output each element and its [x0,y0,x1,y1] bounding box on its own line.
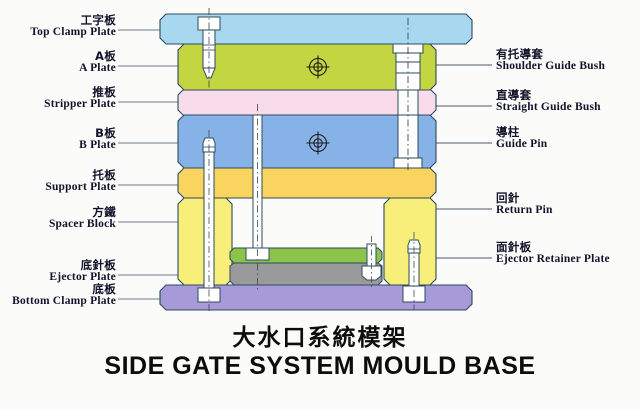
label-b-plate: B板 B Plate [0,127,116,152]
label-shoulder-guide-bush-en: Shoulder Guide Bush [496,60,605,72]
label-support-plate-en: Support Plate [0,181,116,193]
label-straight-guide-bush-en: Straight Guide Bush [496,101,601,113]
label-return-pin-cn: 回針 [496,192,553,204]
label-bottom-clamp-plate: 底板 Bottom Clamp Plate [0,283,116,308]
label-return-pin-en: Return Pin [496,204,553,216]
label-guide-pin-cn: 導柱 [496,126,547,138]
label-b-plate-en: B Plate [0,139,116,151]
label-spacer-block-en: Spacer Block [0,218,116,230]
label-ejector-plate: 底針板 Ejector Plate [0,259,116,284]
label-support-plate: 托板 Support Plate [0,169,116,194]
label-a-plate-cn: A板 [0,50,116,62]
label-bottom-clamp-plate-en: Bottom Clamp Plate [0,295,116,307]
label-return-pin: 回針 Return Pin [496,192,553,217]
label-top-clamp-plate: 工字板 Top Clamp Plate [0,14,116,39]
label-top-clamp-plate-cn: 工字板 [0,14,116,26]
figure-title-cn: 大水口系統模架 [0,318,640,352]
label-support-plate-cn: 托板 [0,169,116,181]
label-spacer-block-cn: 方鐵 [0,206,116,218]
label-stripper-plate-en: Stripper Plate [0,98,116,110]
label-b-plate-cn: B板 [0,127,116,139]
label-bottom-clamp-plate-cn: 底板 [0,283,116,295]
label-ejector-retainer-plate-en: Ejector Retainer Plate [496,253,610,265]
label-a-plate-en: A Plate [0,62,116,74]
label-stripper-plate-cn: 推板 [0,86,116,98]
label-shoulder-guide-bush-cn: 有托導套 [496,48,605,60]
label-guide-pin-en: Guide Pin [496,138,547,150]
label-stripper-plate: 推板 Stripper Plate [0,86,116,111]
label-top-clamp-plate-en: Top Clamp Plate [0,26,116,38]
plate-ejector-plate [230,263,382,285]
figure-title-en: SIDE GATE SYSTEM MOULD BASE [0,352,640,381]
label-ejector-plate-cn: 底針板 [0,259,116,271]
diagram-canvas: 工字板 Top Clamp Plate A板 A Plate 推板 Stripp… [0,0,640,410]
label-ejector-retainer-plate: 面針板 Ejector Retainer Plate [496,241,610,266]
label-a-plate: A板 A Plate [0,50,116,75]
label-straight-guide-bush-cn: 直導套 [496,89,601,101]
label-guide-pin: 導柱 Guide Pin [496,126,547,151]
plate-stripper-plate [178,90,436,115]
label-ejector-retainer-plate-cn: 面針板 [496,241,610,253]
label-shoulder-guide-bush: 有托導套 Shoulder Guide Bush [496,48,605,73]
figure-title: 大水口系統模架 SIDE GATE SYSTEM MOULD BASE [0,318,640,381]
label-spacer-block: 方鐵 Spacer Block [0,206,116,231]
label-straight-guide-bush: 直導套 Straight Guide Bush [496,89,601,114]
plate-support-plate [178,168,436,198]
